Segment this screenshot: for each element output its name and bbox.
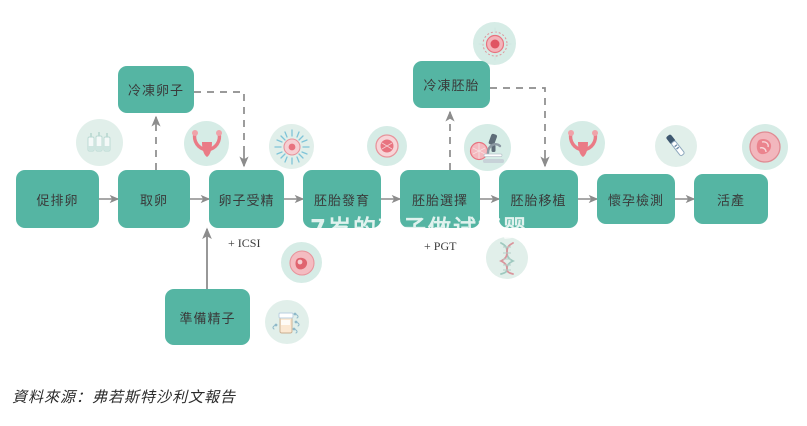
uterus-icon <box>184 121 229 166</box>
flow-node-label: 胚胎發育 <box>314 190 370 209</box>
flow-node-label: 準備精子 <box>179 308 235 327</box>
frozen-embryo-icon <box>473 22 516 65</box>
flow-node-label: 活產 <box>717 190 745 209</box>
blastocyst-icon <box>281 242 322 283</box>
dna-icon <box>486 237 528 279</box>
source-note: 資料來源：弗若斯特沙利文報告 <box>12 386 236 407</box>
flow-node-step-7[interactable]: 懷孕檢測 <box>597 174 675 224</box>
flow-node-step-2[interactable]: 取卵 <box>118 170 190 228</box>
flow-node-step-1[interactable]: 促排卵 <box>16 170 99 228</box>
flow-node-prepare-sperm[interactable]: 準備精子 <box>165 289 250 345</box>
vials-icon <box>76 119 123 166</box>
flow-node-label: 冷凍卵子 <box>128 80 184 99</box>
flow-node-label: 懷孕檢測 <box>608 190 664 209</box>
flow-node-step-3[interactable]: 卵子受精 <box>209 170 284 228</box>
diagram-canvas: 促排卵 取卵 卵子受精 胚胎發育 胚胎選擇 胚胎移植 懷孕檢測 活產 冷凍卵子 … <box>0 0 807 426</box>
flow-node-freeze-embryos[interactable]: 冷凍胚胎 <box>413 61 490 108</box>
microscope-icon <box>464 124 511 171</box>
pregnancy-test-icon <box>655 125 697 167</box>
annotation-icsi: + ICSI <box>228 236 260 251</box>
flow-node-label: 取卵 <box>140 190 168 209</box>
embryo-cell-icon <box>367 126 407 166</box>
flow-node-label: 胚胎選擇 <box>412 190 468 209</box>
flow-node-label: 促排卵 <box>36 190 78 209</box>
fetus-icon <box>742 124 788 170</box>
flow-node-step-8[interactable]: 活產 <box>694 174 768 224</box>
uterus-transfer-icon <box>560 121 605 166</box>
flow-node-label: 卵子受精 <box>218 190 274 209</box>
flow-node-label: 胚胎移植 <box>510 190 566 209</box>
flow-node-label: 冷凍胚胎 <box>423 75 479 94</box>
watermark-text: 7岁的某子做试管婴 <box>310 209 528 243</box>
sperm-sample-icon <box>265 300 309 344</box>
fertilization-icon <box>269 124 314 169</box>
flow-node-freeze-eggs[interactable]: 冷凍卵子 <box>118 66 194 113</box>
